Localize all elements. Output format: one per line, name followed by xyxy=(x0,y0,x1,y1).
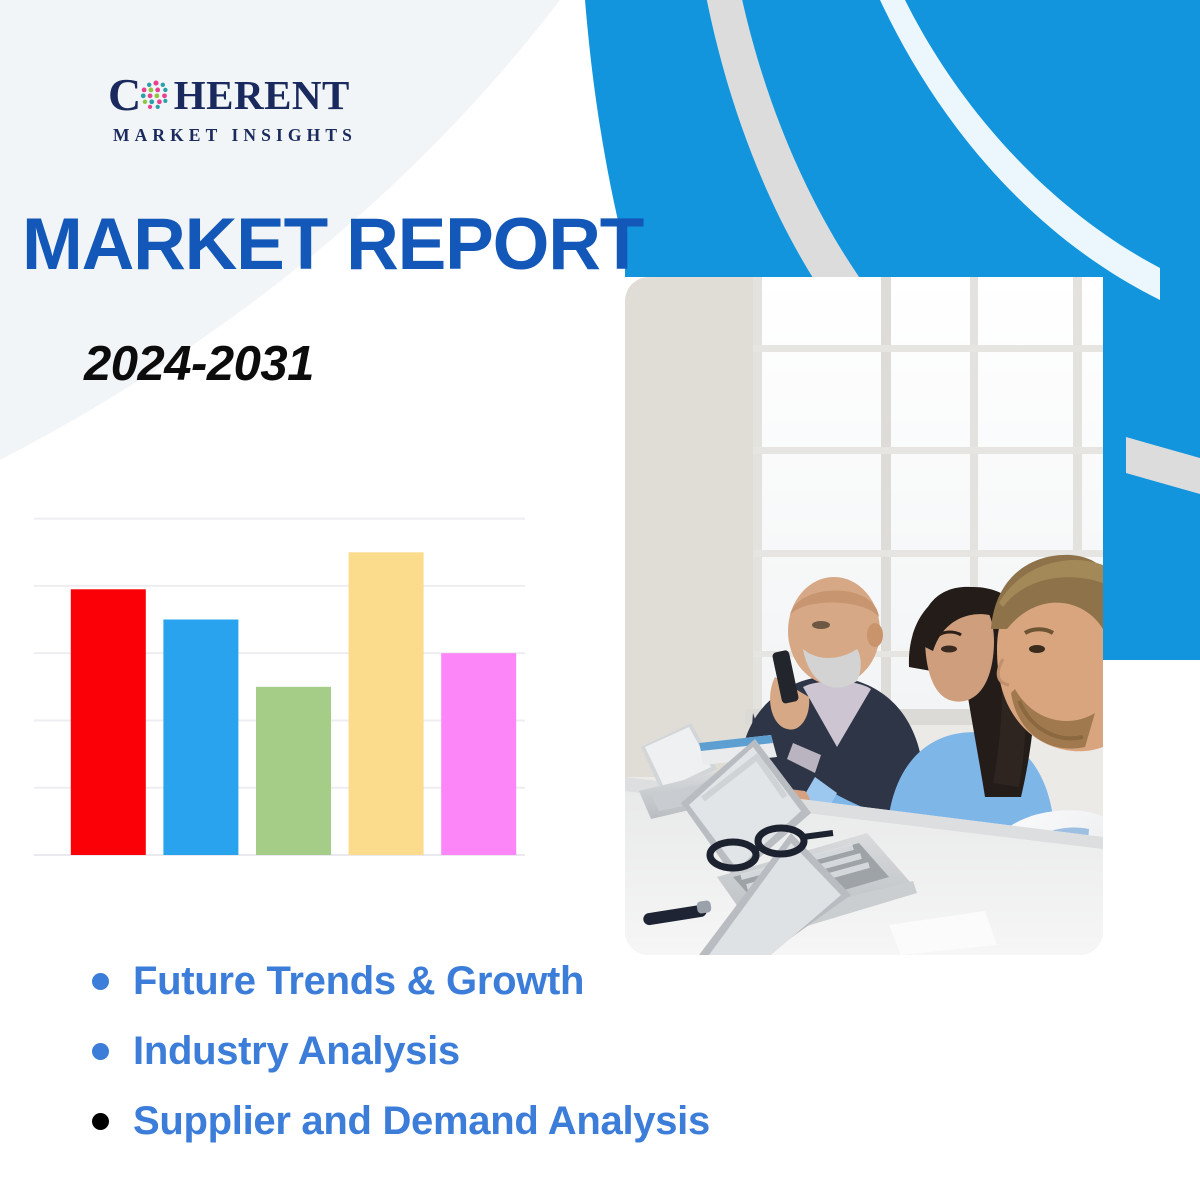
blue-swoosh-right-fill xyxy=(1103,0,1200,660)
list-item[interactable]: Industry Analysis xyxy=(92,1030,710,1072)
business-team-laptops-photo xyxy=(625,277,1103,955)
logo-tagline: MARKET INSIGHTS xyxy=(113,125,357,146)
logo-wordmark-rest: HERENT xyxy=(174,75,350,116)
logo-letter-c: C xyxy=(108,72,142,118)
list-item-label: Supplier and Demand Analysis xyxy=(133,1100,710,1142)
brand-logo[interactable]: C HERENT MARKE xyxy=(108,72,357,146)
bullet-dot-icon xyxy=(92,1113,109,1130)
chart-bar xyxy=(441,653,516,855)
bar-chart-svg xyxy=(0,440,600,880)
photo-illustration xyxy=(625,277,1103,955)
chart-bars xyxy=(71,552,516,855)
chart-bar xyxy=(349,552,424,855)
chart-bar xyxy=(71,589,146,855)
list-item-label: Future Trends & Growth xyxy=(133,960,584,1002)
page-title: MARKET REPORT xyxy=(22,208,643,281)
bar-chart xyxy=(0,440,600,880)
globe-dots-icon xyxy=(139,78,173,112)
list-item[interactable]: Supplier and Demand Analysis xyxy=(92,1100,710,1142)
bullet-dot-icon xyxy=(92,973,109,990)
page-subtitle-years: 2024-2031 xyxy=(84,340,314,389)
logo-wordmark: C HERENT xyxy=(108,72,357,118)
bullet-dot-icon xyxy=(92,1043,109,1060)
chart-bar xyxy=(163,620,238,856)
chart-bar xyxy=(256,687,331,855)
feature-bullet-list: Future Trends & Growth Industry Analysis… xyxy=(92,960,710,1170)
list-item[interactable]: Future Trends & Growth xyxy=(92,960,710,1002)
list-item-label: Industry Analysis xyxy=(133,1030,460,1072)
